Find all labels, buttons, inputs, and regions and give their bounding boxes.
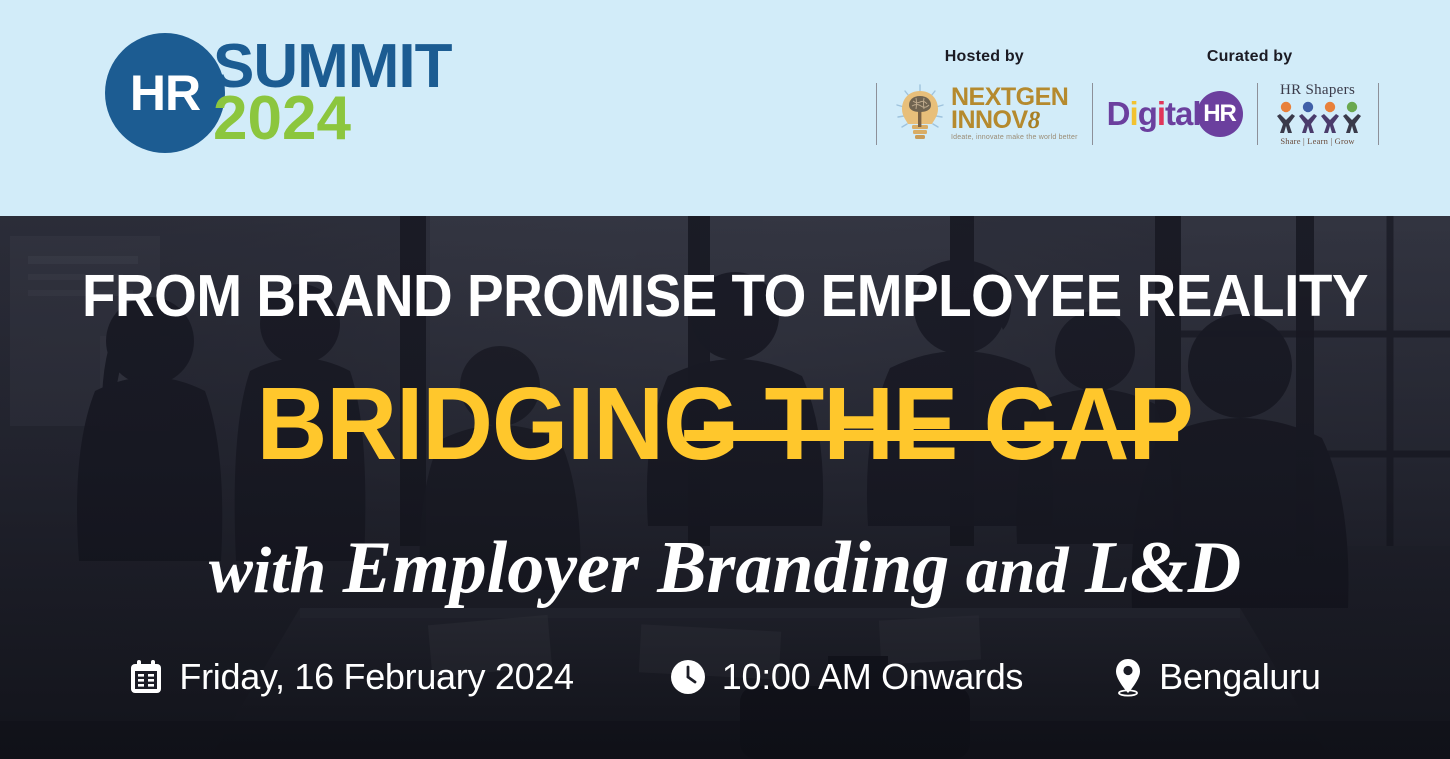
hero-bigline-wrap: BRIDGING THE GAP — [0, 372, 1450, 475]
subtitle-emphasis-1: Employer Branding — [343, 527, 950, 609]
curated-by-group: Curated by Digital HR HR Shapers — [1107, 48, 1393, 150]
summit-wordmark: SUMMIT 2024 — [213, 41, 452, 145]
location-pin-icon — [1113, 657, 1143, 697]
hr-shapers-figures-icon — [1272, 100, 1364, 134]
meta-time-text: 10:00 AM Onwards — [722, 656, 1023, 698]
digital-hr-badge: HR — [1197, 91, 1243, 137]
hr-shapers-tagline: Share | Learn | Grow — [1280, 136, 1354, 146]
banner-header: HR SUMMIT 2024 Hosted by — [0, 0, 1450, 216]
hr-shapers-logo: HR Shapers — [1272, 82, 1364, 146]
clock-icon — [670, 659, 706, 695]
hr-badge-text: HR — [130, 64, 200, 122]
subtitle-and: and — [949, 534, 1085, 607]
meta-location-text: Bengaluru — [1159, 656, 1320, 698]
hero-section: FROM BRAND PROMISE TO EMPLOYEE REALITY B… — [0, 216, 1450, 759]
subtitle-prefix: with — [209, 534, 343, 607]
meta-item-location: Bengaluru — [1113, 656, 1320, 698]
divider-left — [876, 83, 877, 145]
nextgen-line2: INNOV8 — [951, 109, 1078, 132]
calendar-icon — [129, 659, 163, 695]
strikethrough-line — [684, 430, 1178, 441]
nextgen-accent-8: 8 — [1028, 107, 1040, 134]
hero-bigline: BRIDGING THE GAP — [257, 372, 1193, 475]
curated-by-row: Digital HR HR Shapers — [1107, 78, 1393, 150]
nextgen-tagline: Ideate, innovate make the world better — [951, 135, 1078, 141]
hosted-by-group: Hosted by — [862, 48, 1107, 150]
hr-badge-circle: HR — [105, 33, 225, 153]
digital-hr-badge-text: HR — [1203, 100, 1236, 128]
nextgen-wordmark: NEXTGEN INNOV8 Ideate, innovate make the… — [951, 86, 1078, 141]
meta-item-time: 10:00 AM Onwards — [670, 656, 1023, 698]
hr-shapers-title: HR Shapers — [1280, 82, 1355, 99]
lightbulb-tree-icon — [891, 83, 949, 145]
digital-hr-logo: Digital HR — [1107, 91, 1243, 137]
hero-bigline-text: BRIDGING THE GAP — [257, 366, 1193, 481]
nextgen-innov8-logo: NEXTGEN INNOV8 Ideate, innovate make the… — [891, 83, 1078, 145]
hosted-by-row: NEXTGEN INNOV8 Ideate, innovate make the… — [862, 78, 1107, 150]
meta-item-date: Friday, 16 February 2024 — [129, 656, 573, 698]
sponsor-strip: Hosted by — [862, 48, 1393, 150]
subtitle-emphasis-2: L&D — [1085, 527, 1241, 609]
event-meta-row: Friday, 16 February 2024 10:00 AM — [0, 656, 1450, 698]
event-banner: HR SUMMIT 2024 Hosted by — [0, 0, 1450, 759]
divider-far-right — [1378, 83, 1379, 145]
nextgen-line2-text: INNOV — [951, 106, 1028, 134]
meta-date-text: Friday, 16 February 2024 — [179, 656, 573, 698]
digital-wordmark: Digital — [1107, 95, 1201, 133]
hosted-by-caption: Hosted by — [945, 48, 1024, 66]
hero-headline: FROM BRAND PROMISE TO EMPLOYEE REALITY — [51, 262, 1400, 330]
hero-content: FROM BRAND PROMISE TO EMPLOYEE REALITY B… — [0, 216, 1450, 759]
divider-right — [1257, 83, 1258, 145]
hero-subtitle: with Employer Branding and L&D — [0, 526, 1450, 611]
curated-by-caption: Curated by — [1207, 48, 1293, 66]
divider-mid — [1092, 83, 1093, 145]
hr-summit-logo: HR SUMMIT 2024 — [105, 33, 452, 153]
